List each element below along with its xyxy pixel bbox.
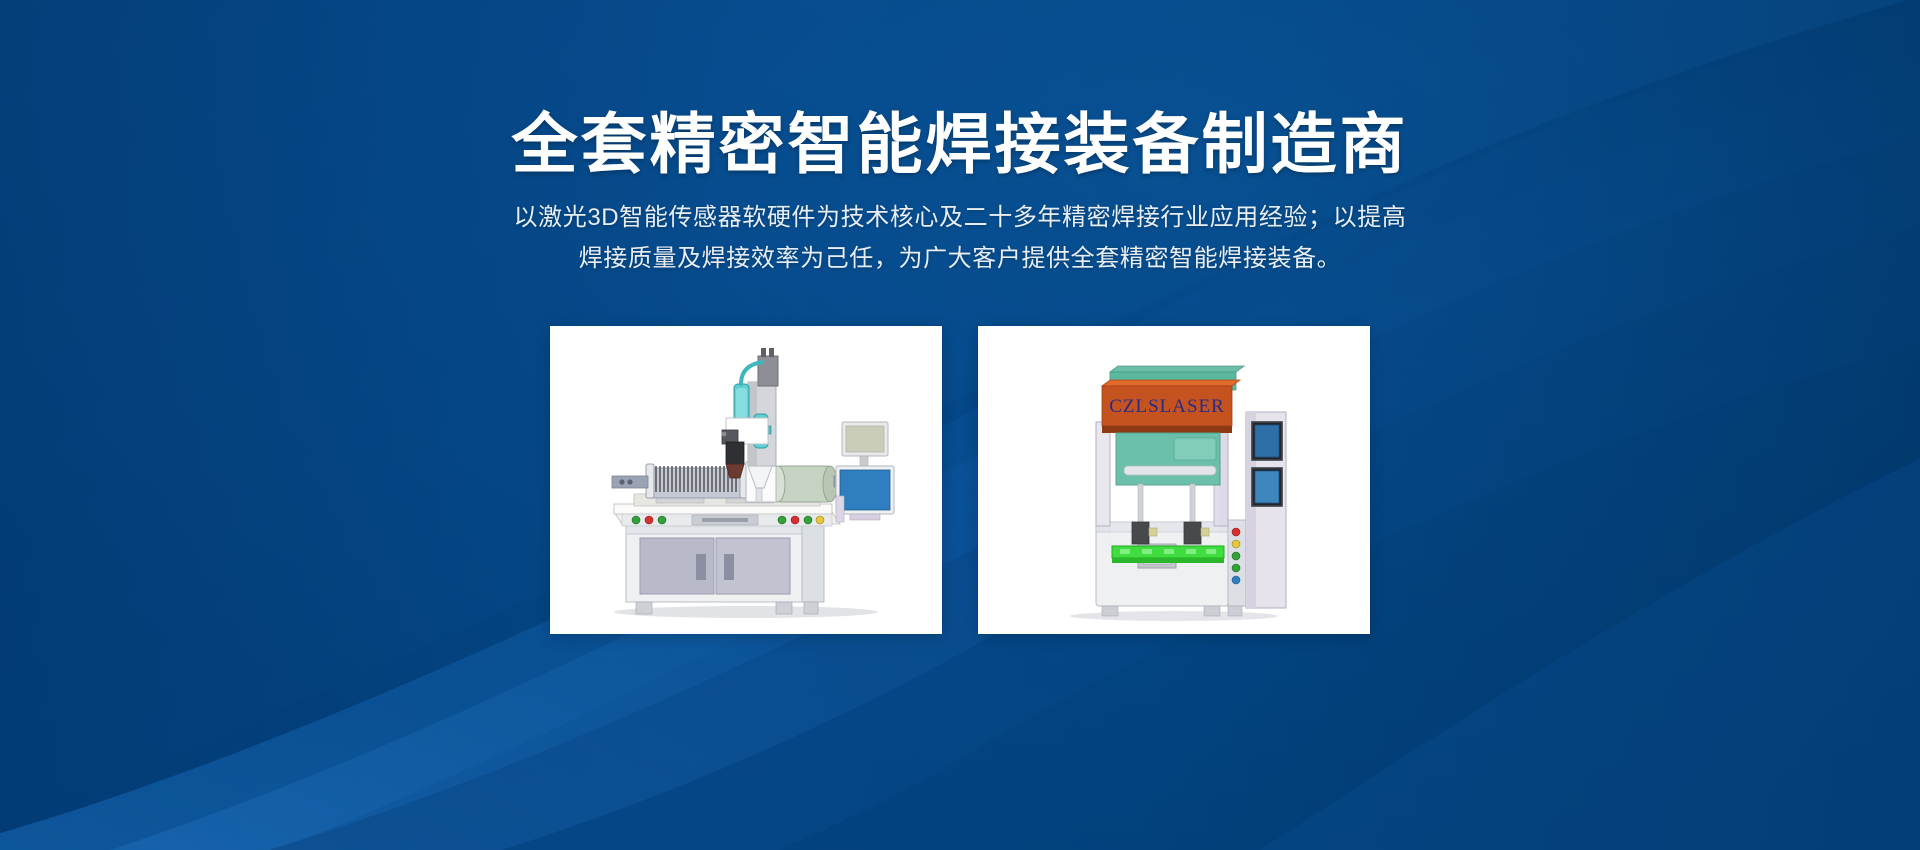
product-image-gallery: CZLSLASER (550, 326, 1370, 634)
subtitle-line-2: 焊接质量及焊接效率为己任，为广大客户提供全套精密智能焊接装备。 (500, 238, 1420, 279)
precision-welding-workstation-illustration (550, 326, 942, 634)
brand-text-czlslaser: CZLSLASER (1109, 396, 1225, 417)
page-title: 全套精密智能焊接装备制造商 (0, 108, 1920, 181)
subtitle-line-1: 以激光3D智能传感器软硬件为技术核心及二十多年精密焊接行业应用经验；以提高 (500, 197, 1420, 238)
product-card-precision-welding-workstation[interactable] (550, 326, 942, 634)
hero-banner: 全套精密智能焊接装备制造商 以激光3D智能传感器软硬件为技术核心及二十多年精密焊… (0, 0, 1920, 850)
product-card-cabinet-laser-welding-machine[interactable]: CZLSLASER (978, 326, 1370, 634)
banner-subtitle: 以激光3D智能传感器软硬件为技术核心及二十多年精密焊接行业应用经验；以提高 焊接… (500, 197, 1420, 279)
cabinet-laser-welding-machine-illustration: CZLSLASER (978, 326, 1370, 634)
